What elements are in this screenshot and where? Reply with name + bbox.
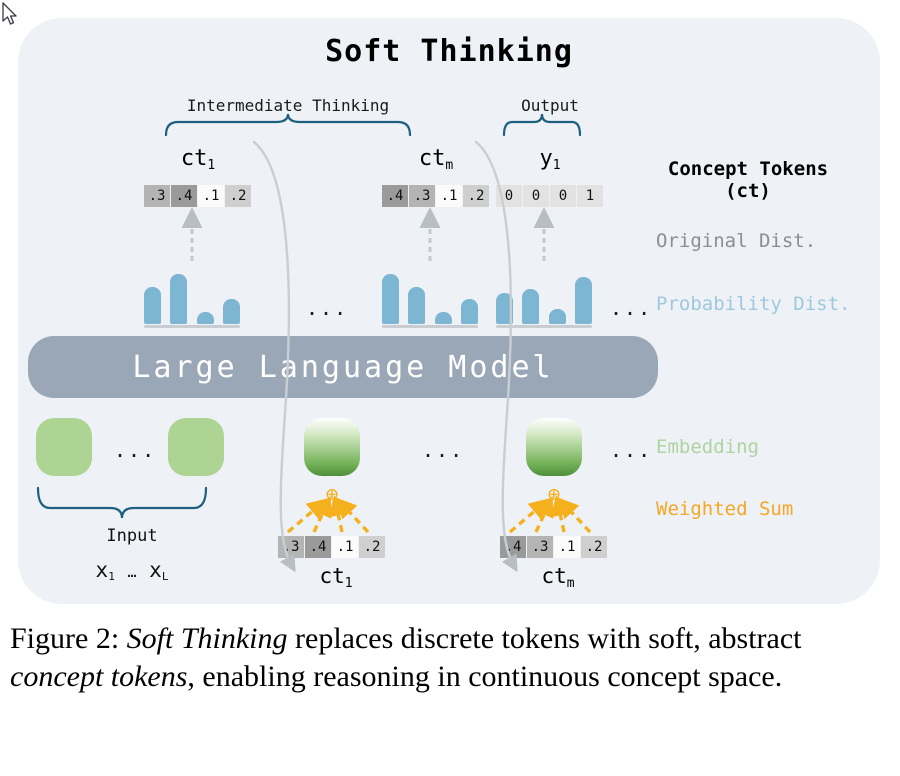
dist-cell: .2 xyxy=(225,185,251,207)
weighted-sum-plus-icon-ct1: ⊕ xyxy=(322,484,342,504)
weighted-arrow-ct1-4 xyxy=(342,504,368,532)
ellipsis-embedding-1: ... xyxy=(114,438,156,462)
legend-probability-dist: Probability Dist. xyxy=(656,293,850,315)
column-label-y1: y1 xyxy=(510,146,590,171)
input-token-first: x xyxy=(96,558,109,582)
bar xyxy=(144,287,161,324)
column-label-ct1-base: ct xyxy=(181,146,208,171)
weighted-arrow-ctm-2 xyxy=(536,504,549,532)
bar xyxy=(408,287,425,324)
dist-cell: .2 xyxy=(581,536,607,558)
caption-middle: replaces discrete tokens with soft, abst… xyxy=(288,622,802,655)
bottom-label-ctm-sub: m xyxy=(567,576,575,591)
dist-cell: .3 xyxy=(144,185,170,207)
weighted-arrow-ctm-1 xyxy=(510,504,543,532)
input-token-first-sub: 1 xyxy=(108,570,115,583)
bottom-label-ct1-sub: 1 xyxy=(345,576,353,591)
dist-cells-ct1-top: .3.4.1.2 xyxy=(144,185,251,207)
caption-suffix: , enabling reasoning in continuous conce… xyxy=(187,660,782,693)
dist-cell: .4 xyxy=(305,536,331,558)
dist-cell: 1 xyxy=(577,185,603,207)
bar xyxy=(197,312,214,324)
group-label-output: Output xyxy=(490,96,610,115)
ellipsis-embedding-2: ... xyxy=(422,438,464,462)
figure-panel: Soft Thinking Intermediate Thinking Outp… xyxy=(18,18,880,604)
bar xyxy=(435,312,452,324)
bar xyxy=(170,274,187,324)
weighted-sum-plus-icon-ctm: ⊕ xyxy=(544,484,564,504)
bar-chart-ct1-baseline xyxy=(144,325,240,328)
bottom-label-ct1: ct1 xyxy=(286,564,386,588)
legend-concept-tokens: Concept Tokens (ct) xyxy=(638,158,858,202)
bar xyxy=(496,293,513,324)
caption-prefix: Figure 2: xyxy=(10,622,127,655)
figure-title: Soft Thinking xyxy=(18,34,880,69)
legend-concept-tokens-line1: Concept Tokens xyxy=(638,158,858,180)
brace-intermediate-thinking xyxy=(166,114,410,135)
mouse-cursor-icon xyxy=(2,2,20,28)
bar-chart-ct1 xyxy=(144,268,240,328)
group-label-intermediate-thinking: Intermediate Thinking xyxy=(148,96,428,115)
bottom-label-ct1-base: ct xyxy=(319,564,344,588)
legend-embedding: Embedding xyxy=(656,436,759,458)
weighted-arrow-ctm-3 xyxy=(558,504,564,532)
column-label-y1-sub: 1 xyxy=(553,158,561,173)
llm-label: Large Language Model xyxy=(132,350,553,385)
dist-cell: .4 xyxy=(500,536,526,558)
bar-chart-ctm-baseline xyxy=(382,325,478,328)
dist-cells-ctm-top: .4.3.1.2 xyxy=(382,185,489,207)
bar xyxy=(223,299,240,324)
column-label-y1-base: y xyxy=(539,146,552,171)
input-tokens: x1 … xL xyxy=(62,558,202,582)
dist-cell: .1 xyxy=(198,185,224,207)
dist-cell: .4 xyxy=(382,185,408,207)
dist-cell: .2 xyxy=(463,185,489,207)
input-token-last: x xyxy=(149,558,162,582)
bottom-label-ctm-base: ct xyxy=(541,564,566,588)
bar xyxy=(382,274,399,324)
dist-cells-y1-top: 0001 xyxy=(496,185,603,207)
dist-cell: .1 xyxy=(332,536,358,558)
embedding-concept-token-ct1 xyxy=(304,418,360,476)
dist-cells-ct1-bottom: .3.4.1.2 xyxy=(278,536,385,558)
bar xyxy=(522,289,539,324)
bar-chart-y1-bars xyxy=(496,268,592,324)
dist-cells-ctm-bottom: .4.3.1.2 xyxy=(500,536,607,558)
bar-chart-ct1-bars xyxy=(144,268,240,324)
caption-emphasis-2: concept tokens xyxy=(10,660,187,693)
input-token-ellipsis: … xyxy=(127,563,136,581)
dist-cell: .3 xyxy=(278,536,304,558)
bar xyxy=(575,277,592,324)
column-label-ct1-sub: 1 xyxy=(207,158,215,173)
ellipsis-charts-1: ... xyxy=(306,296,348,320)
column-label-ct1: ct1 xyxy=(158,146,238,171)
bar xyxy=(549,309,566,324)
dist-cell: .1 xyxy=(554,536,580,558)
bar-chart-ctm-bars xyxy=(382,268,478,324)
ellipsis-charts-2: ... xyxy=(610,296,652,320)
bar-chart-y1 xyxy=(496,268,592,328)
bar-chart-y1-baseline xyxy=(496,325,592,328)
dist-cell: .3 xyxy=(527,536,553,558)
dist-cell: .3 xyxy=(409,185,435,207)
dist-cell: .1 xyxy=(436,185,462,207)
bottom-label-ctm: ctm xyxy=(508,564,608,588)
embedding-concept-token-ctm xyxy=(526,418,582,476)
weighted-arrow-ct1-2 xyxy=(314,504,327,532)
bar-chart-ctm xyxy=(382,268,478,328)
bar xyxy=(461,299,478,324)
ellipsis-embedding-3: ... xyxy=(610,438,652,462)
large-language-model-box: Large Language Model xyxy=(28,336,658,398)
column-label-ctm-sub: m xyxy=(445,158,453,173)
embedding-input-last xyxy=(168,418,224,476)
dist-cell: 0 xyxy=(550,185,576,207)
weighted-arrow-ct1-3 xyxy=(336,504,342,532)
dist-cell: .4 xyxy=(171,185,197,207)
legend-weighted-sum: Weighted Sum xyxy=(656,498,793,520)
dist-cell: 0 xyxy=(523,185,549,207)
brace-output xyxy=(504,114,580,135)
weighted-arrow-ctm-4 xyxy=(564,504,590,532)
weighted-arrow-ct1-1 xyxy=(288,504,321,532)
input-token-last-sub: L xyxy=(162,570,169,583)
embedding-input-first xyxy=(36,418,92,476)
caption-emphasis-1: Soft Thinking xyxy=(127,622,288,655)
figure-caption: Figure 2: Soft Thinking replaces discret… xyxy=(10,620,890,697)
column-label-ctm: ctm xyxy=(396,146,476,171)
dist-cell: .2 xyxy=(359,536,385,558)
dist-cell: 0 xyxy=(496,185,522,207)
legend-original-dist: Original Dist. xyxy=(656,230,816,252)
legend-concept-tokens-line2: (ct) xyxy=(638,180,858,202)
brace-input xyxy=(38,488,206,518)
input-label: Input xyxy=(62,526,202,546)
column-label-ctm-base: ct xyxy=(419,146,446,171)
